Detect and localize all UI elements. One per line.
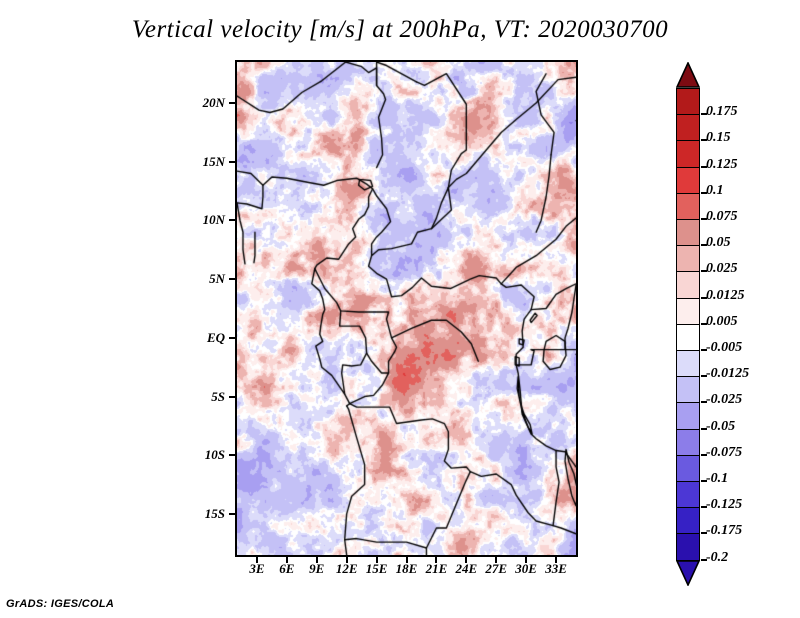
- colorbar-label: -0.075: [706, 445, 742, 461]
- colorbar-band: [676, 376, 700, 404]
- x-axis-tick: [465, 557, 467, 563]
- colorbar-band: [676, 271, 700, 299]
- colorbar[interactable]: 0.1750.150.1250.10.0750.050.0250.01250.0…: [668, 60, 798, 555]
- x-axis-tick: [376, 557, 378, 563]
- x-axis-tick: [435, 557, 437, 563]
- y-axis-tick: [229, 219, 235, 221]
- colorbar-label: 0.125: [706, 157, 738, 173]
- colorbar-label: -0.175: [706, 523, 742, 539]
- colorbar-label: 0.005: [706, 314, 738, 330]
- colorbar-band: [676, 193, 700, 221]
- country-borders-overlay: [237, 62, 576, 555]
- x-axis-label: 33E: [534, 561, 578, 577]
- y-axis-label: 5N: [0, 271, 225, 287]
- colorbar-label: 0.05: [706, 235, 731, 251]
- colorbar-label: 0.025: [706, 261, 738, 277]
- map-plot-area[interactable]: [235, 60, 578, 557]
- colorbar-label: 0.0125: [706, 288, 745, 304]
- y-axis-tick: [229, 161, 235, 163]
- colorbar-arrow-down-icon: [676, 560, 700, 586]
- colorbar-band: [676, 481, 700, 509]
- y-axis-label: 10S: [0, 447, 225, 463]
- x-axis-tick: [346, 557, 348, 563]
- y-axis-label: 10N: [0, 212, 225, 228]
- colorbar-label: 0.075: [706, 209, 738, 225]
- y-axis-label: 15S: [0, 506, 225, 522]
- x-axis-tick: [406, 557, 408, 563]
- colorbar-band: [676, 88, 700, 116]
- x-axis-tick: [495, 557, 497, 563]
- colorbar-label: -0.1: [706, 471, 728, 487]
- colorbar-label: 0.1: [706, 183, 724, 199]
- colorbar-band: [676, 429, 700, 457]
- y-axis-label: 20N: [0, 95, 225, 111]
- x-axis-tick: [525, 557, 527, 563]
- colorbar-label: -0.025: [706, 392, 742, 408]
- colorbar-band: [676, 402, 700, 430]
- y-axis-tick: [229, 513, 235, 515]
- colorbar-label: -0.2: [706, 550, 728, 566]
- colorbar-label: -0.125: [706, 497, 742, 513]
- y-axis-label: 5S: [0, 389, 225, 405]
- y-axis-tick: [229, 102, 235, 104]
- colorbar-band: [676, 507, 700, 535]
- colorbar-band: [676, 114, 700, 142]
- y-axis-label: EQ: [0, 330, 225, 346]
- colorbar-band: [676, 324, 700, 352]
- colorbar-band: [676, 350, 700, 378]
- colorbar-label: -0.0125: [706, 366, 749, 382]
- y-axis-tick: [229, 278, 235, 280]
- y-axis-tick: [229, 454, 235, 456]
- colorbar-label: 0.175: [706, 104, 738, 120]
- y-axis-tick: [229, 396, 235, 398]
- colorbar-label: 0.15: [706, 130, 731, 146]
- colorbar-label: -0.05: [706, 419, 735, 435]
- colorbar-band: [676, 298, 700, 326]
- colorbar-band: [676, 245, 700, 273]
- colorbar-band: [676, 167, 700, 195]
- x-axis-tick: [316, 557, 318, 563]
- x-axis-tick: [256, 557, 258, 563]
- y-axis-label: 15N: [0, 154, 225, 170]
- footer-credit: GrADS: IGES/COLA: [6, 598, 114, 610]
- page-title: Vertical velocity [m/s] at 200hPa, VT: 2…: [0, 16, 800, 44]
- colorbar-band: [676, 455, 700, 483]
- x-axis-tick: [286, 557, 288, 563]
- colorbar-band: [676, 140, 700, 168]
- y-axis-tick: [229, 337, 235, 339]
- colorbar-label: -0.005: [706, 340, 742, 356]
- colorbar-band: [676, 219, 700, 247]
- colorbar-band: [676, 533, 700, 561]
- colorbar-arrow-up-icon: [676, 62, 700, 88]
- x-axis-tick: [555, 557, 557, 563]
